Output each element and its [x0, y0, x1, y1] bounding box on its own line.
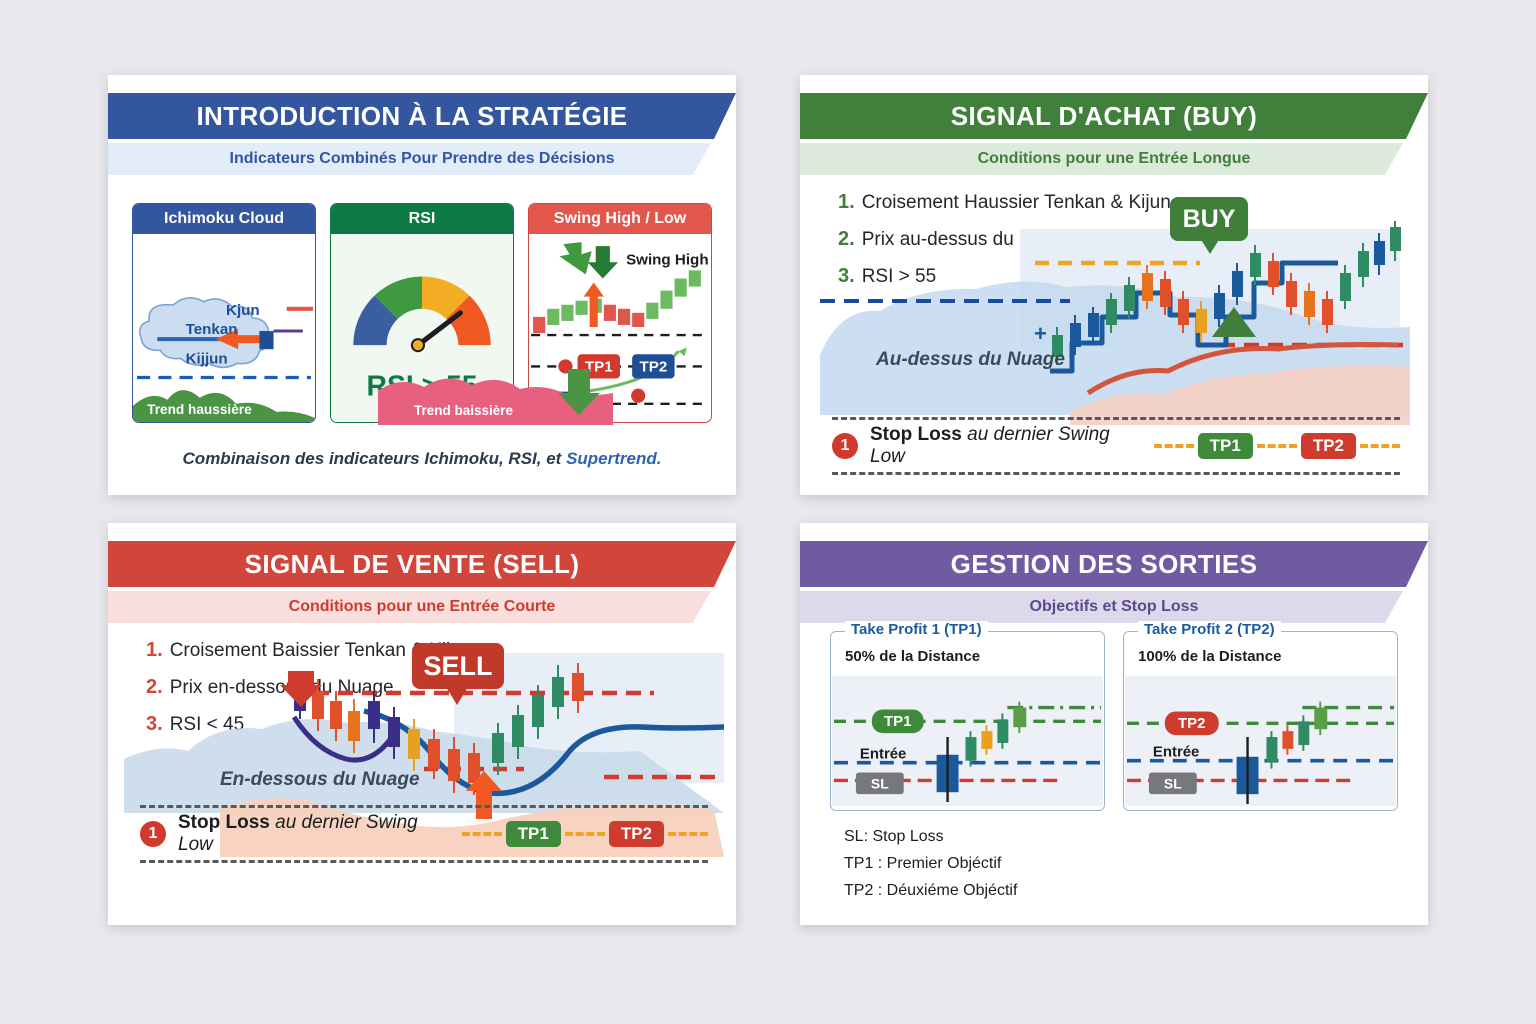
- ichimoku-card-body: Tenkan Kjun Kijjun Trend haussière: [133, 234, 315, 422]
- dash-segment: [1360, 444, 1400, 448]
- condition-number: 1.: [838, 191, 855, 214]
- swing-candles: [533, 270, 701, 333]
- label-trend-baissiere: Trend baissière: [414, 403, 514, 418]
- sell-badge-pointer-icon: [446, 687, 468, 705]
- legend-item-sl: SL: Stop Loss: [844, 823, 1017, 850]
- panel2-subtitle: Conditions pour une Entrée Longue: [825, 150, 1403, 168]
- panel4-subtitle: Objectifs et Stop Loss: [825, 598, 1403, 616]
- stop-loss-number-badge: 1: [832, 433, 858, 459]
- swing-dot-2: [631, 389, 645, 403]
- buy-stop-loss-text: Stop Loss au dernier Swing Low: [870, 424, 1134, 468]
- stop-loss-bold: Stop Loss: [870, 424, 962, 445]
- buy-cloud-label: Au-dessus du Nuage: [875, 349, 1065, 370]
- condition-text: Croisement Haussier Tenkan & Kijun: [862, 192, 1171, 214]
- swing-curve-arrow-icon: [679, 347, 687, 356]
- caption-highlight: Supertrend.: [566, 449, 661, 468]
- take-profit-1-card[interactable]: Take Profit 1 (TP1) 50% de la Distance: [830, 631, 1105, 811]
- dash-segment: [668, 832, 708, 836]
- panel2-banner: SIGNAL D'ACHAT (BUY): [800, 93, 1428, 139]
- plus-marker-icon: +: [1034, 321, 1047, 346]
- panel2-title: SIGNAL D'ACHAT (BUY): [800, 101, 1428, 132]
- sell-cloud-label: En-dessous du Nuage: [220, 769, 420, 790]
- label-swing-high: Swing High: [626, 251, 709, 268]
- panel3-subbanner: Conditions pour une Entrée Courte: [108, 591, 736, 623]
- label-tenkan: Tenkan: [186, 321, 238, 338]
- sell-footer-strip: 1 Stop Loss au dernier Swing Low TP1 TP2: [140, 805, 708, 863]
- buy-tp1-badge[interactable]: TP1: [1198, 433, 1253, 459]
- tp1-card-title: Take Profit 1 (TP1): [845, 621, 988, 638]
- swing-up-arrow-icon: [559, 242, 591, 274]
- tp2-entry-label: Entrée: [1153, 745, 1199, 761]
- panel4-title: GESTION DES SORTIES: [800, 549, 1428, 580]
- exit-legend: SL: Stop Loss TP1 : Premier Objéctif TP2…: [844, 823, 1017, 904]
- dash-segment: [565, 832, 605, 836]
- swing-down-arrow-icon: [588, 246, 618, 278]
- tp1-entry-label: Entrée: [860, 747, 906, 763]
- panel4-banner: GESTION DES SORTIES: [800, 541, 1428, 587]
- sell-tp2-badge[interactable]: TP2: [609, 821, 664, 847]
- legend-item-tp1: TP1 : Premier Objéctif: [844, 850, 1017, 877]
- stop-loss-number-badge: 1: [140, 821, 166, 847]
- sell-tp1-badge[interactable]: TP1: [506, 821, 561, 847]
- gauge-needle: [418, 313, 460, 345]
- bear-trend-band: Trend baissière: [378, 365, 613, 425]
- tp1-sl-label: SL: [871, 775, 889, 791]
- panel1-title: INTRODUCTION À LA STRATÉGIE: [108, 101, 736, 132]
- panel1-banner: INTRODUCTION À LA STRATÉGIE: [108, 93, 736, 139]
- sell-signal-label: SELL: [423, 651, 492, 682]
- tp2-percent: 100% de la Distance: [1138, 648, 1281, 665]
- panel4-subbanner: Objectifs et Stop Loss: [800, 591, 1428, 623]
- swing-card-header: Swing High / Low: [529, 204, 711, 234]
- panel3-subtitle: Conditions pour une Entrée Courte: [133, 598, 711, 616]
- panel-sell-signal: SIGNAL DE VENTE (SELL) Conditions pour u…: [108, 523, 736, 925]
- tp2-badge-label: TP2: [1178, 716, 1205, 732]
- tp2-chart-svg: TP2 Entrée SL: [1125, 676, 1396, 806]
- buy-tp2-badge[interactable]: TP2: [1301, 433, 1356, 459]
- tp1-percent: 50% de la Distance: [845, 648, 980, 665]
- buy-signal-label: BUY: [1183, 205, 1236, 234]
- panel1-subbanner: Indicateurs Combinés Pour Prendre des Dé…: [108, 143, 736, 175]
- panel1-subtitle: Indicateurs Combinés Pour Prendre des Dé…: [133, 150, 711, 168]
- sell-tp-line: TP1 TP2: [462, 821, 708, 847]
- dash-segment: [1154, 444, 1194, 448]
- caption-prefix: Combinaison des indicateurs Ichimoku, RS…: [183, 449, 567, 468]
- ichimoku-diagram: Tenkan Kjun Kijjun Trend haussière: [133, 234, 315, 422]
- tp2-sl-label: SL: [1164, 775, 1182, 791]
- panel-introduction: INTRODUCTION À LA STRATÉGIE Indicateurs …: [108, 75, 736, 495]
- dash-segment: [462, 832, 502, 836]
- ichimoku-card-header: Ichimoku Cloud: [133, 204, 315, 234]
- legend-item-tp2: TP2 : Déuxiéme Objéctif: [844, 877, 1017, 904]
- infographic-grid: INTRODUCTION À LA STRATÉGIE Indicateurs …: [108, 75, 1428, 925]
- buy-signal-badge[interactable]: BUY: [1170, 197, 1248, 241]
- rsi-card-header: RSI: [331, 204, 513, 234]
- buy-chart: Au-dessus du Nuage +: [820, 215, 1410, 425]
- buy-badge-pointer-icon: [1200, 238, 1220, 254]
- label-trend-haussiere: Trend haussière: [147, 402, 252, 417]
- panel3-banner: SIGNAL DE VENTE (SELL): [108, 541, 736, 587]
- dash-segment: [1257, 444, 1297, 448]
- price-block: [259, 331, 273, 349]
- label-kjun: Kjun: [226, 302, 260, 319]
- panel2-subbanner: Conditions pour une Entrée Longue: [800, 143, 1428, 175]
- panel-buy-signal: SIGNAL D'ACHAT (BUY) Conditions pour une…: [800, 75, 1428, 495]
- tp1-badge-label: TP1: [884, 714, 911, 730]
- panel1-caption: Combinaison des indicateurs Ichimoku, RS…: [108, 449, 736, 469]
- sell-stop-loss-text: Stop Loss au dernier Swing Low: [178, 812, 442, 856]
- tp1-chart: TP1 Entrée SL: [832, 676, 1103, 806]
- swing-tp2-label: TP2: [639, 358, 667, 375]
- indicator-card-ichimoku[interactable]: Ichimoku Cloud Tenkan Kjun Kijjun: [132, 203, 316, 423]
- buy-condition-1: 1. Croisement Haussier Tenkan & Kijun: [838, 191, 1171, 214]
- panel-exit-management: GESTION DES SORTIES Objectifs et Stop Lo…: [800, 523, 1428, 925]
- take-profit-cards: Take Profit 1 (TP1) 50% de la Distance: [830, 631, 1398, 811]
- gauge-hub: [412, 339, 424, 351]
- label-kijjun: Kijjun: [186, 350, 228, 367]
- tp2-chart: TP2 Entrée SL: [1125, 676, 1396, 806]
- panel3-title: SIGNAL DE VENTE (SELL): [108, 549, 736, 580]
- buy-tp-line: TP1 TP2: [1154, 433, 1400, 459]
- tp1-chart-svg: TP1 Entrée SL: [832, 676, 1103, 806]
- buy-footer-strip: 1 Stop Loss au dernier Swing Low TP1 TP2: [832, 417, 1400, 475]
- take-profit-2-card[interactable]: Take Profit 2 (TP2) 100% de la Distance: [1123, 631, 1398, 811]
- tp2-card-title: Take Profit 2 (TP2): [1138, 621, 1281, 638]
- sell-signal-badge[interactable]: SELL: [412, 643, 504, 689]
- stop-loss-bold: Stop Loss: [178, 812, 270, 833]
